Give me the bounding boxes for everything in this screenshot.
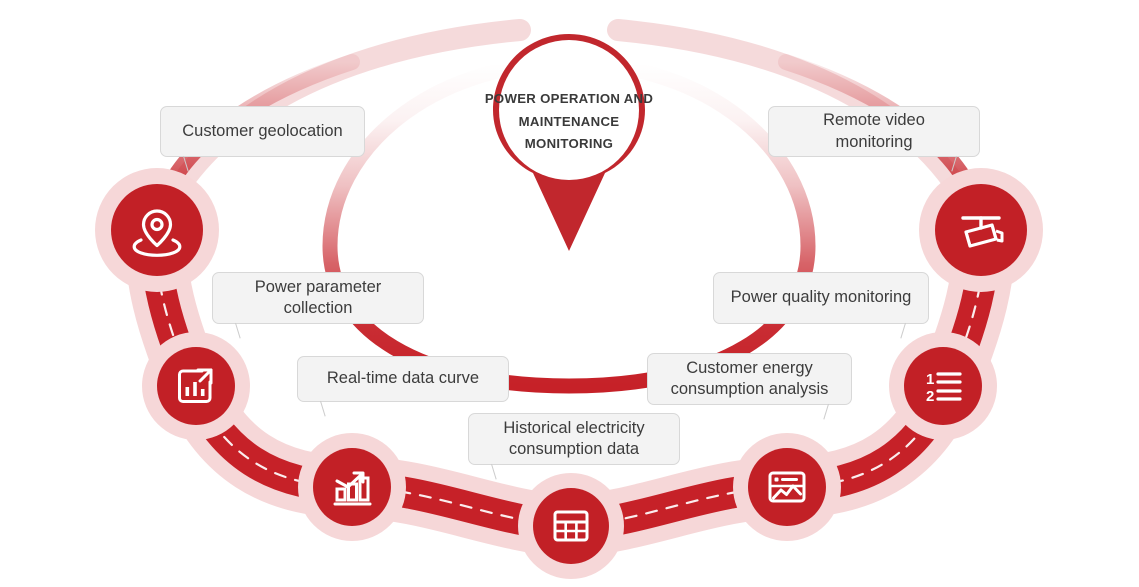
label-text: Power quality monitoring [731,287,912,308]
label-power-parameter-collection[interactable]: Power parameter collection [212,272,424,324]
node-power-parameter-collection[interactable] [142,332,250,440]
label-power-quality-monitoring[interactable]: Power quality monitoring [713,272,929,324]
label-text: Historical electricity consumption data [503,418,644,460]
node-power-quality-monitoring[interactable] [889,332,997,440]
node-customer-energy-analysis[interactable] [733,433,841,541]
label-remote-video-monitoring[interactable]: Remote video monitoring [768,106,980,157]
label-customer-geolocation[interactable]: Customer geolocation [160,106,365,157]
diagram-canvas: 1 2 POWER OPERATION AND MAINTENANCE MONI… [0,0,1139,587]
label-text: Real-time data curve [327,368,479,389]
node-real-time-data-curve[interactable] [298,433,406,541]
center-map-pin: POWER OPERATION AND MAINTENANCE MONITORI… [483,25,655,260]
node-historical-electricity-data[interactable] [518,473,624,579]
label-real-time-data-curve[interactable]: Real-time data curve [297,356,509,402]
label-text: Customer geolocation [182,121,343,142]
label-text: Power parameter collection [255,277,382,319]
label-text: Customer energy consumption analysis [671,358,829,400]
label-text: Remote video monitoring [783,110,965,152]
node-customer-geolocation[interactable] [95,168,219,292]
label-historical-electricity-data[interactable]: Historical electricity consumption data [468,413,680,465]
label-customer-energy-analysis[interactable]: Customer energy consumption analysis [647,353,852,405]
node-remote-video-monitoring[interactable] [919,168,1043,292]
center-pin-label: POWER OPERATION AND MAINTENANCE MONITORI… [483,88,655,156]
